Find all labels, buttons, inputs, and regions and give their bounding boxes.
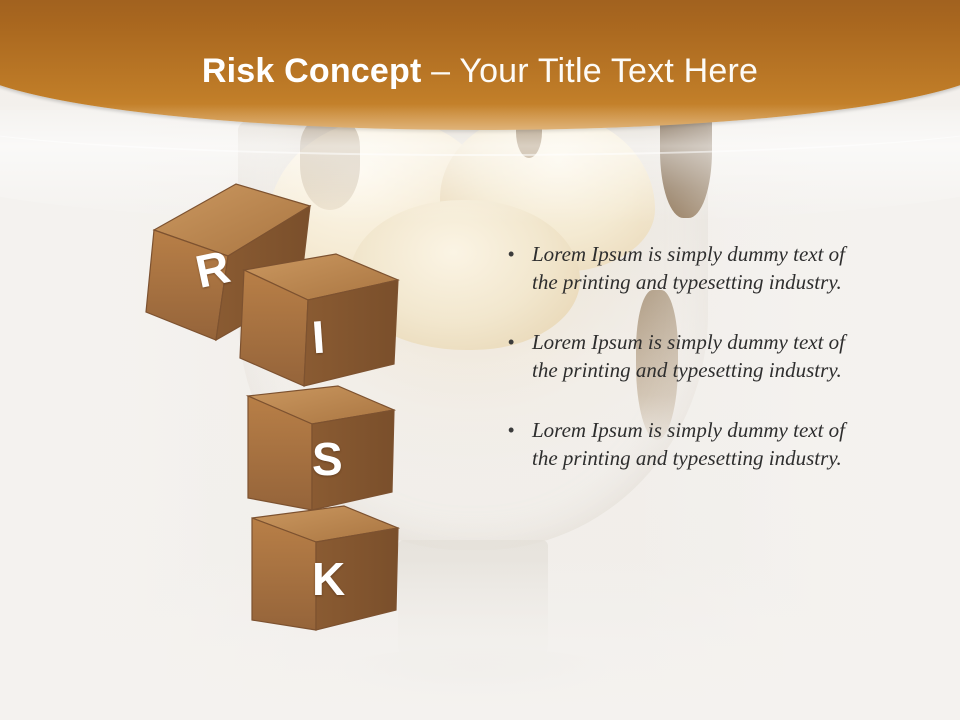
slide-title: Risk Concept – Your Title Text Here: [0, 50, 960, 92]
bullet-marker-icon: •: [508, 416, 532, 444]
slide-title-separator: –: [422, 52, 460, 90]
risk-blocks-svg: [140, 160, 430, 640]
list-item: • Lorem Ipsum is simply dummy text of th…: [508, 416, 848, 472]
slide-title-light: Your Title Text Here: [459, 52, 758, 90]
list-item: • Lorem Ipsum is simply dummy text of th…: [508, 240, 848, 296]
risk-blocks-graphic: R I S K: [140, 160, 430, 640]
bullet-text: Lorem Ipsum is simply dummy text of the …: [532, 416, 848, 472]
block-letter-s: S: [312, 432, 343, 486]
presentation-slide: Risk Concept – Your Title Text Here: [0, 0, 960, 720]
bullet-text: Lorem Ipsum is simply dummy text of the …: [532, 328, 848, 384]
bullet-list: • Lorem Ipsum is simply dummy text of th…: [508, 240, 848, 504]
bullet-marker-icon: •: [508, 328, 532, 356]
block-letter-k: K: [312, 552, 345, 606]
bullet-marker-icon: •: [508, 240, 532, 268]
bullet-text: Lorem Ipsum is simply dummy text of the …: [532, 240, 848, 296]
slide-title-bold: Risk Concept: [202, 52, 422, 90]
list-item: • Lorem Ipsum is simply dummy text of th…: [508, 328, 848, 384]
